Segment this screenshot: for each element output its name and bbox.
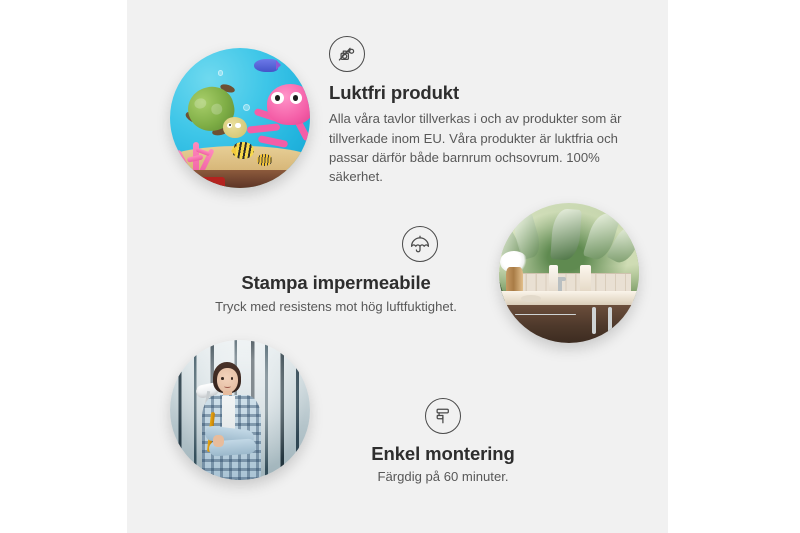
bubble-icon [218,70,224,76]
feature-description: Tryck med resistens mot hög luftfuktighe… [200,297,472,316]
feature-title: Stampa impermeabile [200,271,472,294]
woman-painter-forest-photo [170,340,310,480]
paint-roller-icon [425,398,461,434]
tile-backsplash [507,273,630,293]
underwater-kids-mural-photo [170,48,310,188]
feature-title: Luktfri produkt [329,81,629,104]
feature-description: Färgdig på 60 minuter. [318,467,568,486]
umbrella-icon [402,226,438,262]
feature-odour-free: Luktfri produkt Alla våra tavlor tillver… [329,36,629,187]
no-fragrance-spray-icon [329,36,365,72]
feature-easy-mounting: Enkel montering Färgdig på 60 minuter. [318,398,568,487]
feature-description: Alla våra tavlor tillverkas i och av pro… [329,109,629,187]
room-floor-strip [170,170,310,188]
feature-title: Enkel montering [318,442,568,465]
woman-with-paint-roller [192,362,273,480]
blue-fish-illustration [254,59,278,72]
feature-waterproof-print: Stampa impermeabile Tryck med resistens … [200,226,472,317]
yellow-fish-illustration [232,142,254,159]
product-feature-banner: Luktfri produkt Alla våra tavlor tillver… [0,0,800,533]
bathroom-tropical-wallpaper-photo [499,203,639,343]
bottle [549,265,557,293]
turtle-illustration [184,87,248,140]
small-fish-illustration [257,154,272,165]
wooden-vanity-cabinet [507,305,639,343]
